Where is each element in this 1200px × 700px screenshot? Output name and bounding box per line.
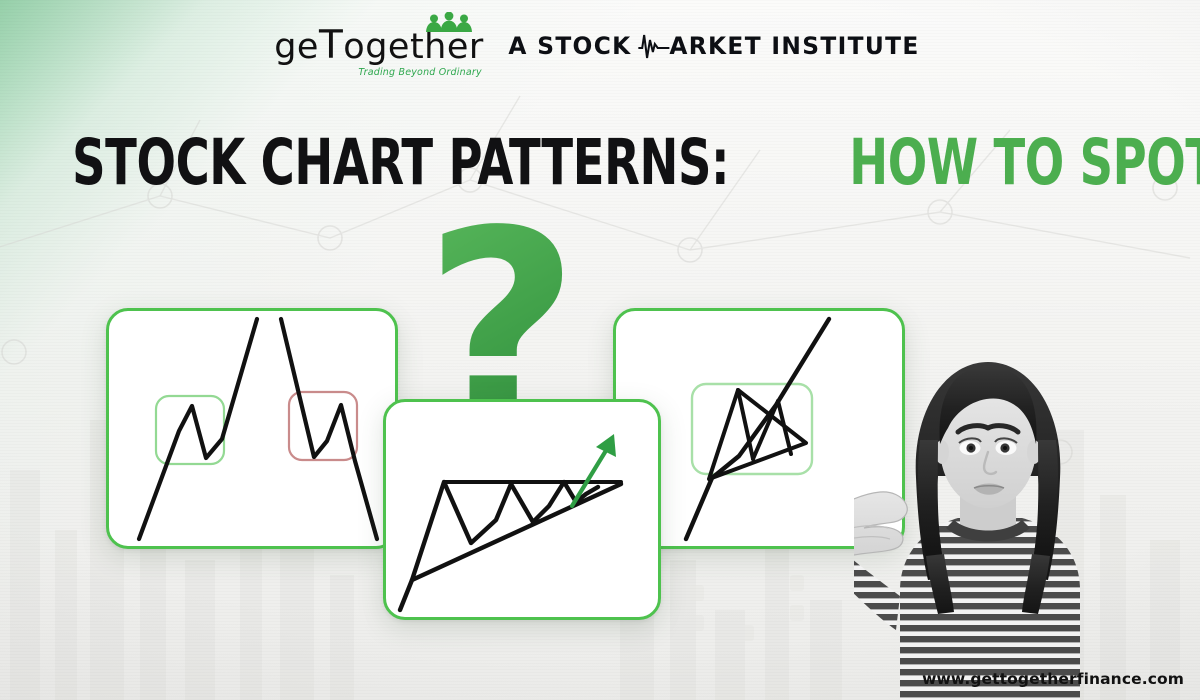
open-palm-hand xyxy=(854,492,907,568)
institute-text-before: A STOCK xyxy=(508,32,631,60)
support-trendline xyxy=(412,484,621,580)
title-green-part: HOW TO SPOT? xyxy=(849,131,1200,194)
institute-tagline: A STOCK ARKET INSTITUTE xyxy=(508,31,919,61)
page-title: STOCK CHART PATTERNS: HOW TO SPOT? xyxy=(0,131,1200,194)
price-action-line xyxy=(400,482,598,610)
pattern-card-double-top-bottom[interactable] xyxy=(106,308,398,549)
three-people-icon xyxy=(422,12,476,32)
website-url[interactable]: www.gettogetherfinance.com xyxy=(922,670,1184,688)
logo-word-cap: T xyxy=(319,23,343,68)
institute-text-after: ARKET INSTITUTE xyxy=(669,32,919,60)
downtrend-line xyxy=(686,319,829,539)
getogether-logo: geTogether Trading Beyond Ordinary xyxy=(274,26,484,65)
banner-canvas: geTogether Trading Beyond Ordinary A STO… xyxy=(0,0,1200,700)
triangle-consolidation-shape xyxy=(709,390,806,479)
logo-word-part1: ge xyxy=(274,27,319,67)
logo-word-part2: ogether xyxy=(343,27,484,67)
header-logo-row: geTogether Trading Beyond Ordinary A STO… xyxy=(0,26,1200,65)
downtrend-zigzag-line xyxy=(281,319,377,539)
logo-tagline: Trading Beyond Ordinary xyxy=(358,67,481,78)
confused-woman-photo xyxy=(854,328,1122,700)
title-black-part: STOCK CHART PATTERNS: xyxy=(72,131,729,194)
heartbeat-m-icon xyxy=(637,31,670,61)
pattern-card-ascending-triangle[interactable] xyxy=(383,399,661,620)
